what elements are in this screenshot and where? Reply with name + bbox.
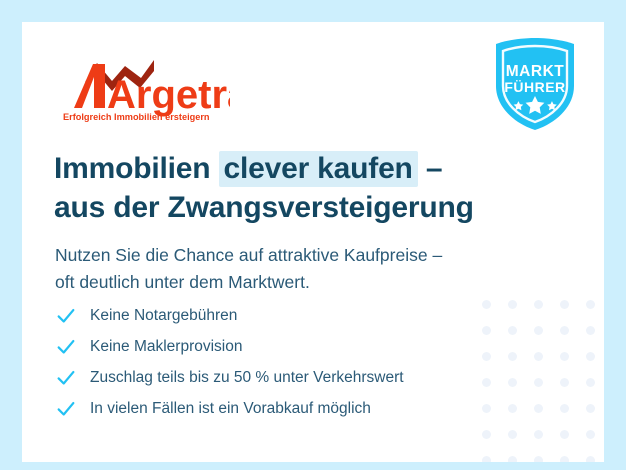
dot [482, 404, 491, 413]
markt-fuehrer-badge: MARKT FÜHRER [488, 34, 582, 134]
dot [586, 378, 595, 387]
dot [560, 326, 569, 335]
dot [482, 456, 491, 462]
benefits-checklist: Keine Notargebühren Keine Maklerprovisio… [55, 300, 404, 424]
headline-text-after: – [418, 152, 443, 185]
headline-highlight: clever kaufen [219, 151, 418, 187]
dot [560, 378, 569, 387]
list-item: In vielen Fällen ist ein Vorabkauf mögli… [55, 393, 404, 424]
dot [560, 404, 569, 413]
logo-tagline: Erfolgreich Immobilien ersteigern [63, 112, 210, 122]
list-item: Keine Notargebühren [55, 300, 404, 331]
list-item: Zuschlag teils bis zu 50 % unter Verkehr… [55, 362, 404, 393]
check-icon [55, 367, 77, 389]
badge-line1: MARKT [506, 63, 564, 80]
dot [482, 352, 491, 361]
dot [586, 326, 595, 335]
outer-frame: Argetra Erfolgreich Immobilien ersteiger… [0, 0, 626, 470]
logo-wordmark: Argetra [107, 73, 230, 117]
promo-card: Argetra Erfolgreich Immobilien ersteiger… [22, 22, 604, 462]
dot [508, 378, 517, 387]
dot [586, 300, 595, 309]
dot [508, 300, 517, 309]
dot [482, 430, 491, 439]
dot [586, 430, 595, 439]
dot [482, 326, 491, 335]
dot [508, 430, 517, 439]
subheadline: Nutzen Sie die Chance auf attraktive Kau… [55, 242, 442, 296]
dot [534, 378, 543, 387]
dot [508, 352, 517, 361]
dot [560, 300, 569, 309]
headline-line2: aus der Zwangsversteigerung [54, 189, 474, 226]
list-item-label: Zuschlag teils bis zu 50 % unter Verkehr… [90, 370, 404, 386]
dot [586, 352, 595, 361]
headline-line1: Immobilien clever kaufen – [54, 151, 442, 187]
argetra-logo[interactable]: Argetra Erfolgreich Immobilien ersteiger… [55, 40, 230, 122]
dot [508, 326, 517, 335]
dot [534, 326, 543, 335]
dot [534, 352, 543, 361]
dot-grid-decoration [482, 300, 604, 462]
subheadline-line2: oft deutlich unter dem Marktwert. [55, 269, 442, 296]
badge-line2: FÜHRER [504, 79, 565, 95]
dot [534, 404, 543, 413]
dot [508, 404, 517, 413]
dot [534, 430, 543, 439]
dot [534, 456, 543, 462]
check-icon [55, 336, 77, 358]
list-item-label: Keine Notargebühren [90, 308, 237, 324]
dot [560, 430, 569, 439]
dot [508, 456, 517, 462]
subheadline-line1: Nutzen Sie die Chance auf attraktive Kau… [55, 242, 442, 269]
check-icon [55, 398, 77, 420]
dot [586, 456, 595, 462]
dot [482, 300, 491, 309]
dot [560, 352, 569, 361]
dot [482, 378, 491, 387]
list-item: Keine Maklerprovision [55, 331, 404, 362]
page-title: Immobilien clever kaufen – aus der Zwang… [54, 150, 474, 226]
headline-text-before: Immobilien [54, 152, 219, 185]
list-item-label: Keine Maklerprovision [90, 339, 243, 355]
dot [534, 300, 543, 309]
dot [560, 456, 569, 462]
dot [586, 404, 595, 413]
list-item-label: In vielen Fällen ist ein Vorabkauf mögli… [90, 401, 371, 417]
check-icon [55, 305, 77, 327]
